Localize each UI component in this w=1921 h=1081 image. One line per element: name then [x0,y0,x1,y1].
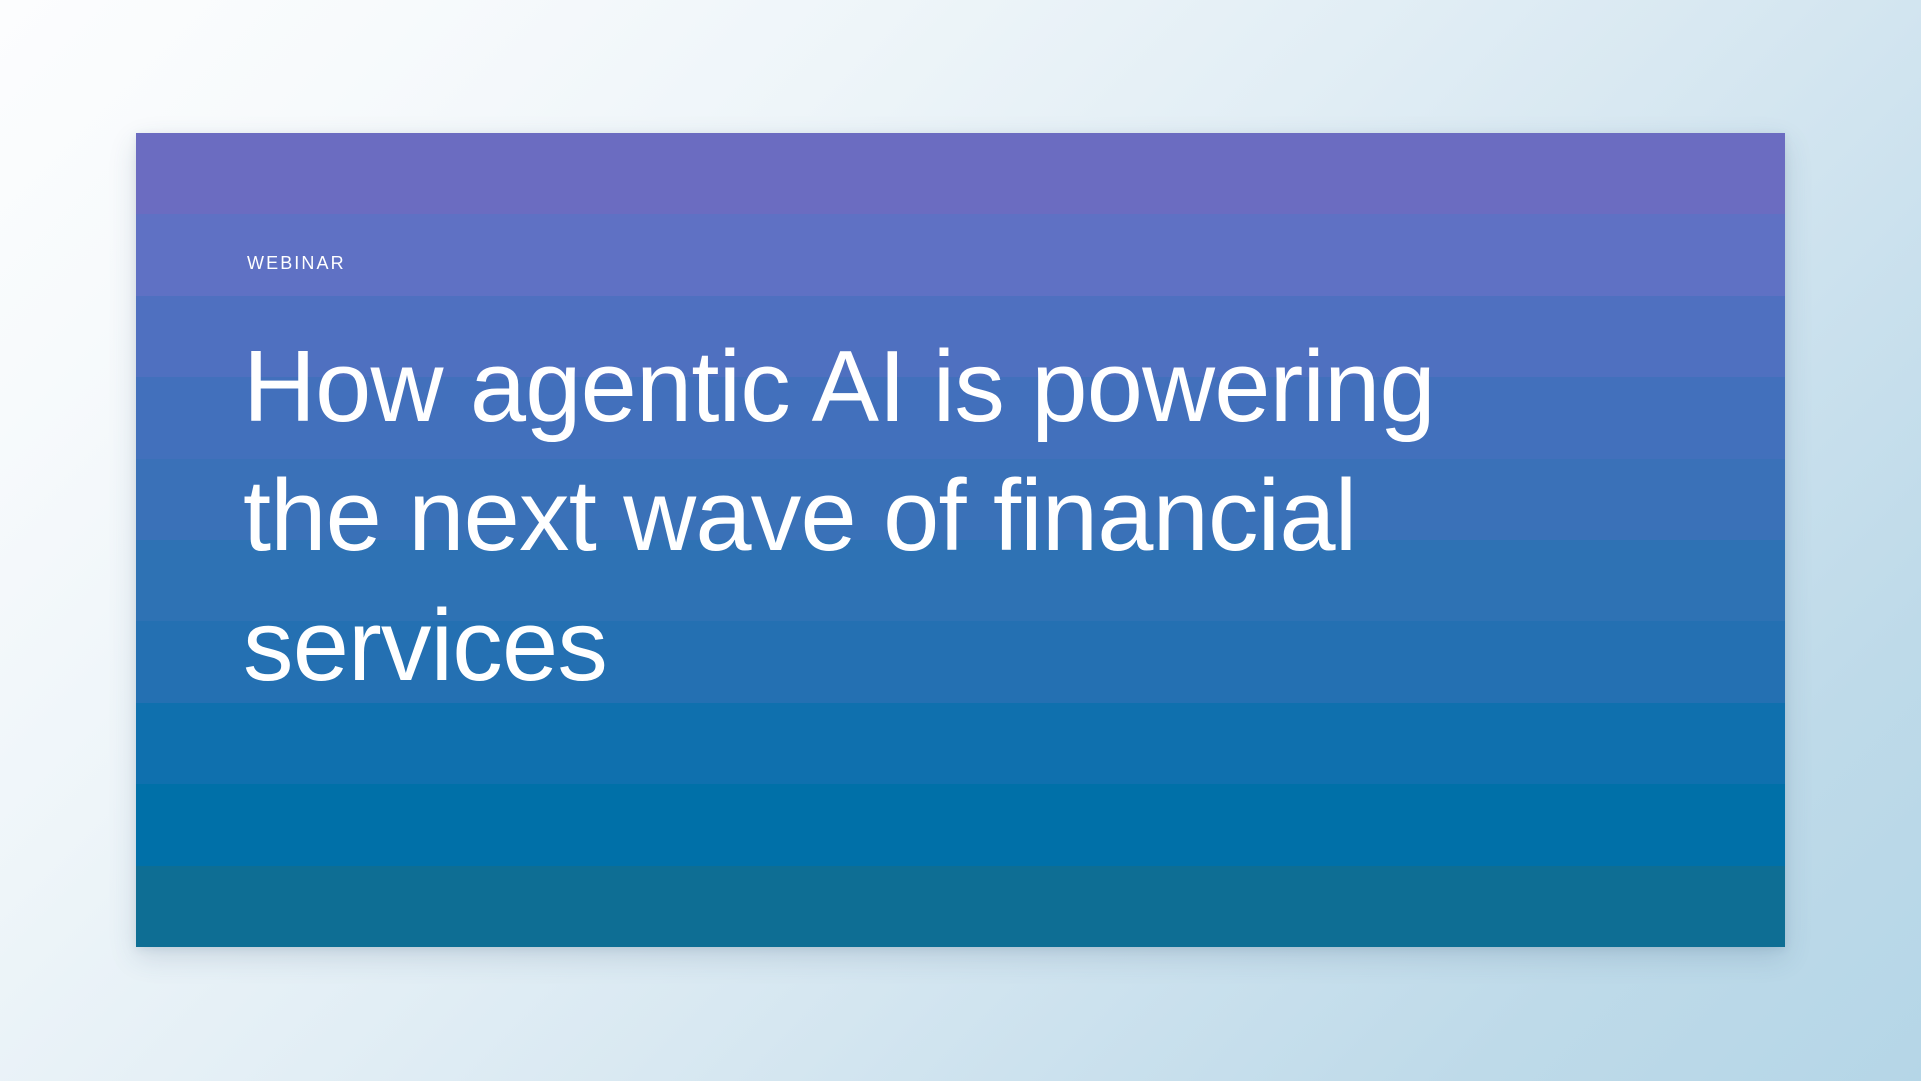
page-title: How agentic AI is powering the next wave… [243,323,1435,711]
headline-line: services [243,582,1435,711]
card-content: WEBINAR How agentic AI is powering the n… [247,133,1725,947]
headline-line: How agentic AI is powering [243,323,1435,452]
eyebrow-label: WEBINAR [247,254,346,272]
webinar-hero-card: WEBINAR How agentic AI is powering the n… [136,133,1785,947]
headline-line: the next wave of financial [243,452,1435,581]
